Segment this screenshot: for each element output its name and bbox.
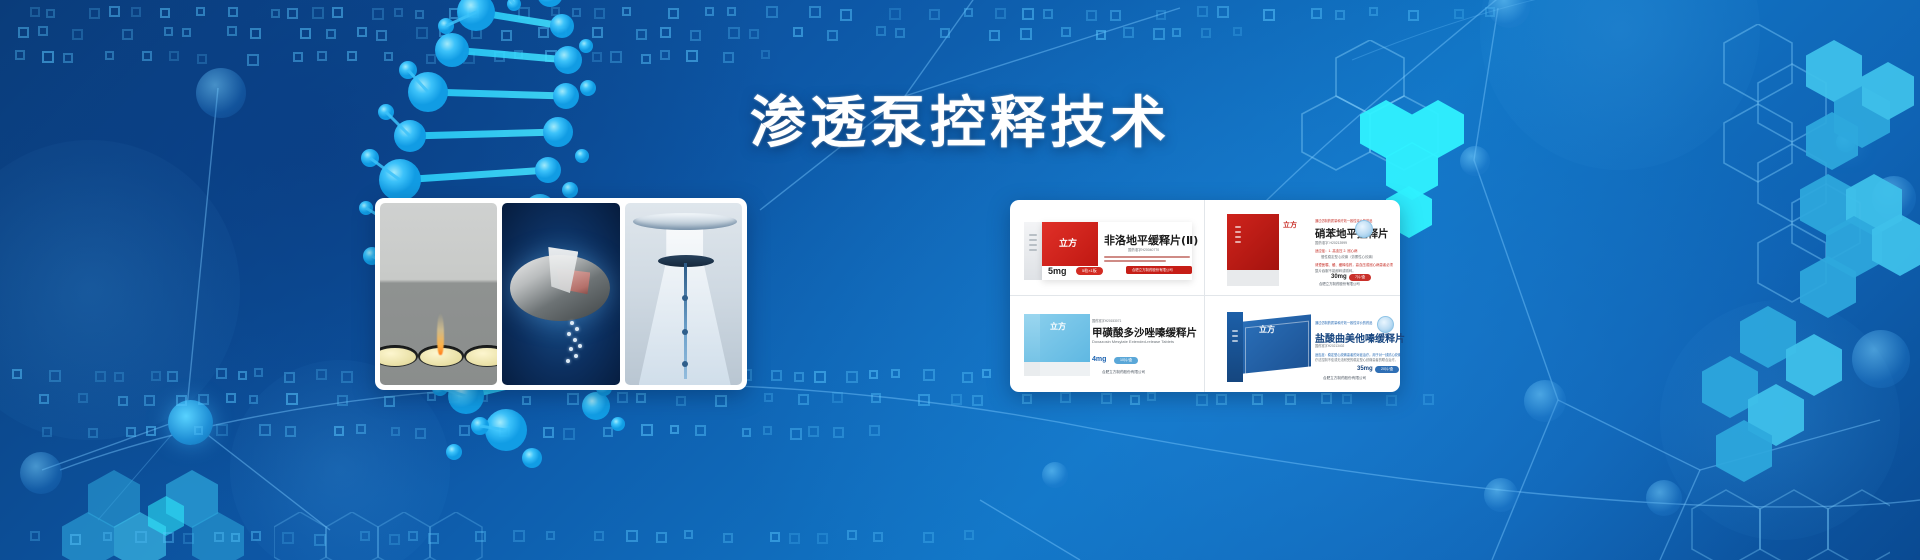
carton-front-panel: 立方 国药准字H20153071 甲磺酸多沙唑嗪缓释片 Doxazosin Me… <box>1090 314 1192 376</box>
decorative-square <box>1285 394 1296 405</box>
carton-front-panel: 立方 通过仿制药质量和疗效一致性评价的药品 硝苯地平控释片 国药准字 H2021… <box>1279 214 1377 286</box>
decorative-square <box>271 9 280 18</box>
decorative-square <box>964 8 973 17</box>
decorative-square <box>793 27 803 37</box>
decorative-square <box>728 27 740 39</box>
hexagon-shape <box>1846 174 1902 236</box>
network-node <box>168 400 213 445</box>
decorative-square <box>871 393 881 403</box>
decorative-square <box>1201 28 1211 38</box>
decorative-square <box>126 427 136 437</box>
dose-label: 35mg <box>1357 366 1373 372</box>
pack-badge: 10片/盒 <box>1114 357 1138 364</box>
network-node <box>1484 478 1518 512</box>
decorative-square <box>151 371 161 381</box>
product-carton: 立方 通过仿制药质量和疗效一致性评价的药品 硝苯地平控释片 国药准字 H2021… <box>1227 214 1377 286</box>
pack-badge: 20片/盒 <box>1375 366 1399 373</box>
decorative-square <box>38 26 48 36</box>
hexagon-shape <box>1740 306 1796 368</box>
decorative-square <box>144 395 155 406</box>
decorative-square <box>763 426 772 435</box>
product-cell-doxazosin[interactable]: 立方 国药准字H20153071 甲磺酸多沙唑嗪缓释片 Doxazosin Me… <box>1010 296 1205 392</box>
decorative-square <box>146 426 156 436</box>
decorative-square <box>109 6 120 17</box>
decorative-square <box>259 424 271 436</box>
carton-front-panel: 立方 非洛地平缓释片(Ⅱ) 国药准字H20040770 5mg 5粒×1板 合肥… <box>1042 222 1192 280</box>
decorative-square <box>1020 28 1032 40</box>
dye-droplet <box>682 295 688 301</box>
approval-number: 国药准字 H20213999 <box>1315 240 1347 245</box>
manufacturer: 合肥立方制药股份有限公司 <box>1132 267 1173 272</box>
hexagon-outline <box>1690 430 1890 560</box>
decorative-square <box>1022 8 1034 20</box>
decorative-square <box>227 26 237 36</box>
decorative-square <box>197 54 207 64</box>
hexagon-shape <box>1826 216 1882 278</box>
decorative-square <box>789 533 800 544</box>
decorative-square <box>972 395 983 406</box>
hexagon-shape <box>1716 420 1772 482</box>
decorative-square <box>761 50 770 59</box>
decorative-square <box>513 530 525 542</box>
banner-headline: 渗透泵控释技术 <box>0 78 1920 159</box>
decorative-square <box>873 532 883 542</box>
decorative-square <box>251 531 261 541</box>
decorative-square <box>254 368 263 377</box>
decorative-square <box>131 7 141 17</box>
hexagon-shape <box>192 512 244 560</box>
decorative-square <box>918 394 930 406</box>
decorative-square <box>840 9 852 21</box>
decorative-square <box>1147 392 1156 401</box>
indication-line-1: 适应症：1. 高血压 2. 冠心病 <box>1315 248 1357 253</box>
decorative-square <box>546 531 555 540</box>
decorative-square <box>1096 30 1106 40</box>
decorative-square <box>287 8 298 19</box>
manufacturer: 合肥立方制药股份有限公司 <box>1102 370 1145 375</box>
approval-number: 国药准字H20153071 <box>1092 318 1121 323</box>
decorative-square <box>827 30 838 41</box>
decorative-square <box>408 531 418 541</box>
pack-badge: 7片/盒 <box>1349 274 1371 281</box>
indication-line-2: 疗法控制不佳或无法耐受的稳定型心绞痛患者的联合治疗。 <box>1315 357 1398 362</box>
decorative-square <box>929 9 940 20</box>
process-photo-strip <box>375 198 747 390</box>
decorative-square <box>962 372 973 383</box>
decorative-square <box>428 533 439 544</box>
decorative-square <box>1386 395 1397 406</box>
dose-label: 5mg <box>1048 266 1067 276</box>
hexagon-shape <box>148 496 184 536</box>
approval-number: 国药准字H20040770 <box>1128 247 1159 252</box>
decorative-square <box>684 530 693 539</box>
decorative-square <box>742 428 751 437</box>
decorative-square <box>656 532 667 543</box>
decorative-square <box>889 8 901 20</box>
consistency-note: 通过仿制药质量和疗效一致性评价的药品 <box>1315 320 1372 325</box>
decorative-square <box>723 52 734 63</box>
decorative-square <box>216 424 228 436</box>
hexagon-shape <box>62 512 114 560</box>
decorative-square <box>284 372 295 383</box>
decorative-square <box>809 6 821 18</box>
indication-line-2: 慢性稳定型心绞痛（劳累性心绞痛） <box>1321 254 1375 259</box>
decorative-square <box>1156 10 1166 20</box>
decorative-square <box>164 27 173 36</box>
decorative-square <box>42 427 52 437</box>
decorative-square <box>1043 9 1053 19</box>
product-carton: 立方 通过仿制药质量和疗效一致性评价的药品 盐酸曲美他嗪缓释片 国药准字H202… <box>1227 310 1385 382</box>
decorative-square <box>869 370 878 379</box>
dose-label: 30mg <box>1331 274 1347 280</box>
decorative-square <box>846 371 858 383</box>
decorative-square <box>1197 6 1208 17</box>
decorative-square <box>46 9 55 18</box>
decorative-square <box>808 426 819 437</box>
network-node <box>20 452 62 494</box>
decorative-square <box>895 28 905 38</box>
decorative-square <box>1216 394 1227 405</box>
decorative-square <box>285 426 296 437</box>
product-cell-felodipine[interactable]: 立方 非洛地平缓释片(Ⅱ) 国药准字H20040770 5mg 5粒×1板 合肥… <box>1010 200 1205 296</box>
decorative-square <box>1086 10 1097 21</box>
decorative-square <box>1196 394 1208 406</box>
decorative-square <box>1130 395 1140 405</box>
decorative-square <box>231 533 240 542</box>
decorative-square <box>1485 7 1495 17</box>
decorative-square <box>1408 10 1419 21</box>
released-particles <box>564 321 584 365</box>
brand-logo: 立方 <box>1283 220 1297 230</box>
approval-number: 国药准字H20213402 <box>1315 343 1344 348</box>
decorative-square <box>1263 9 1275 21</box>
decorative-square <box>247 54 259 66</box>
quality-seal-icon <box>1377 316 1394 333</box>
decorative-square <box>226 393 236 403</box>
network-node <box>1646 480 1682 516</box>
product-name: 硝苯地平控释片 <box>1315 226 1389 241</box>
manufacturer: 合肥立方制药股份有限公司 <box>1319 281 1360 286</box>
network-node <box>1524 380 1566 422</box>
decorative-square <box>475 531 486 542</box>
decorative-square <box>770 532 780 542</box>
decorative-square <box>964 530 974 540</box>
decorative-square <box>72 29 83 40</box>
hexagon-outline <box>274 512 574 560</box>
blister-outline <box>1245 321 1309 378</box>
decorative-square <box>118 396 128 406</box>
decorative-square <box>88 428 98 438</box>
decorative-square <box>1233 27 1242 36</box>
decorative-square <box>951 394 962 405</box>
hexagon-outline <box>1722 24 1920 324</box>
photo-tablet-cutaway-core <box>502 203 619 385</box>
decorative-square <box>1153 28 1165 40</box>
hexagon-shape <box>88 470 140 528</box>
decorative-square <box>1311 8 1322 19</box>
decorative-square <box>798 394 809 405</box>
decorative-square <box>167 371 178 382</box>
decorative-square <box>194 426 203 435</box>
decorative-square <box>238 371 247 380</box>
decorative-square <box>42 51 54 63</box>
decorative-square <box>876 26 886 36</box>
decorative-square <box>891 369 900 378</box>
photo-tablet-coating-flame <box>380 203 497 385</box>
product-cell-trimetazidine[interactable]: 立方 通过仿制药质量和疗效一致性评价的药品 盐酸曲美他嗪缓释片 国药准字H202… <box>1205 296 1400 392</box>
promotional-banner: 渗透泵控释技术 <box>0 0 1920 560</box>
brand-logo: 立方 <box>1259 324 1275 335</box>
warning-line-2: 整片吞服不能掰碎或嚼碎。 <box>1315 268 1356 273</box>
carton-side-panel <box>1227 312 1243 382</box>
decorative-square <box>18 27 29 38</box>
decorative-square <box>727 7 736 16</box>
dose-label: 4mg <box>1092 356 1106 363</box>
decorative-square <box>216 368 227 379</box>
decorative-square <box>214 532 224 542</box>
decorative-square <box>1423 394 1434 405</box>
decorative-square <box>282 532 294 544</box>
decorative-square <box>105 51 114 60</box>
hexagon-shape <box>1786 334 1842 396</box>
decorative-square <box>982 369 991 378</box>
decorative-square <box>163 532 174 543</box>
decorative-square <box>1369 7 1378 16</box>
hexagon-shape <box>114 512 166 560</box>
carton-front-panel: 立方 通过仿制药质量和疗效一致性评价的药品 盐酸曲美他嗪缓释片 国药准字H202… <box>1313 310 1385 382</box>
decorative-square <box>142 51 152 61</box>
carton-base <box>1040 362 1090 376</box>
hexagon-shape <box>1748 384 1804 446</box>
dye-droplet <box>682 361 688 367</box>
decorative-square <box>169 51 179 61</box>
decorative-square <box>790 428 802 440</box>
decorative-square <box>135 531 147 543</box>
decorative-square <box>1060 392 1071 403</box>
decorative-square <box>832 392 843 403</box>
decorative-square <box>360 531 370 541</box>
photo-dissolution-flask <box>625 203 742 385</box>
decorative-square <box>196 7 205 16</box>
decorative-square <box>228 7 238 17</box>
decorative-square <box>1101 393 1112 404</box>
glow-blob <box>1660 300 1900 540</box>
decorative-square <box>1454 9 1464 19</box>
hexagon-shape <box>1800 256 1856 318</box>
hexagon-shape <box>1702 356 1758 418</box>
product-carton: 立方 非洛地平缓释片(Ⅱ) 国药准字H20040770 5mg 5粒×1板 合肥… <box>1024 222 1192 280</box>
decorative-square <box>30 7 40 17</box>
decorative-square <box>923 369 935 381</box>
decorative-square <box>198 394 209 405</box>
decorative-square <box>749 29 759 39</box>
decorative-square <box>923 532 934 543</box>
decorative-square <box>1252 394 1263 405</box>
decorative-square <box>122 29 133 40</box>
decorative-square <box>1217 6 1229 18</box>
product-english-name: Doxazosin Mesylate Extended-release Tabl… <box>1092 339 1174 344</box>
manufacturer: 合肥立方制药股份有限公司 <box>1323 376 1366 381</box>
decorative-square <box>286 393 298 405</box>
carton-base <box>1024 362 1040 376</box>
brand-logo: 立方 <box>1059 236 1077 249</box>
product-gallery: 立方 非洛地平缓释片(Ⅱ) 国药准字H20040770 5mg 5粒×1板 合肥… <box>1010 200 1400 392</box>
decorative-square <box>1172 28 1181 37</box>
decorative-square <box>594 531 604 541</box>
network-node <box>1872 176 1916 220</box>
decorative-square <box>995 8 1006 19</box>
quality-seal-icon <box>1355 220 1373 238</box>
decorative-square <box>250 28 261 39</box>
decorative-square <box>15 50 25 60</box>
flask-rim <box>633 213 737 230</box>
product-cell-nifedipine[interactable]: 立方 通过仿制药质量和疗效一致性评价的药品 硝苯地平控释片 国药准字 H2021… <box>1205 200 1400 296</box>
decorative-square <box>63 53 73 63</box>
decorative-square <box>723 533 733 543</box>
decorative-square <box>989 30 1000 41</box>
decorative-square <box>1335 10 1345 20</box>
decorative-square <box>49 370 61 382</box>
network-node <box>1042 462 1068 488</box>
glow-blob <box>0 140 240 440</box>
decorative-square <box>1342 394 1352 404</box>
product-carton: 立方 国药准字H20153071 甲磺酸多沙唑嗪缓释片 Doxazosin Me… <box>1024 314 1192 376</box>
network-node <box>1488 0 1530 28</box>
brand-logo: 立方 <box>1050 321 1066 332</box>
hexagon-shape <box>1800 174 1856 236</box>
hexagon-shape <box>166 470 218 528</box>
dye-droplet <box>682 329 688 335</box>
decorative-square <box>847 530 857 540</box>
decorative-square <box>833 427 844 438</box>
hexagon-shape <box>1872 214 1920 276</box>
decorative-square <box>1061 27 1071 37</box>
carton-base <box>1227 270 1279 286</box>
decorative-square <box>39 394 49 404</box>
decorative-square <box>1321 393 1332 404</box>
decorative-square <box>814 371 826 383</box>
warning-line-1: 请遵医嘱、缓、缓释给药，高血压或冠心病患者必须 <box>1315 262 1393 267</box>
decorative-square <box>1123 27 1134 38</box>
decorative-square <box>314 534 326 546</box>
product-name: 非洛地平缓释片(Ⅱ) <box>1104 232 1198 248</box>
carton-side-panel <box>1024 314 1040 362</box>
network-node <box>1852 330 1910 388</box>
decorative-square <box>626 530 638 542</box>
product-name: 甲磺酸多沙唑嗪缓释片 <box>1092 325 1197 340</box>
decorative-square <box>1022 394 1032 404</box>
decorative-square <box>182 28 191 37</box>
pack-badge: 5粒×1板 <box>1076 267 1103 275</box>
decorative-square <box>160 8 170 18</box>
carton-side-panel <box>1024 222 1042 280</box>
decorative-square <box>103 532 112 541</box>
decorative-square <box>764 393 773 402</box>
decorative-square <box>249 395 258 404</box>
decorative-square <box>12 369 22 379</box>
decorative-square <box>817 533 828 544</box>
laser-drill-flame <box>437 313 444 355</box>
decorative-square <box>869 425 880 436</box>
decorative-square <box>30 531 40 541</box>
decorative-square <box>794 372 804 382</box>
decorative-square <box>766 6 778 18</box>
decorative-square <box>95 371 106 382</box>
decorative-square <box>176 395 187 406</box>
decorative-square <box>183 533 194 544</box>
decorative-square <box>89 8 100 19</box>
decorative-square <box>114 372 124 382</box>
carton-side-panel <box>1227 214 1279 270</box>
decorative-square <box>771 370 782 381</box>
decorative-square <box>70 534 81 545</box>
decorative-square <box>1110 10 1121 21</box>
decorative-square <box>940 28 950 38</box>
decorative-square <box>78 393 88 403</box>
decorative-square <box>389 534 400 545</box>
